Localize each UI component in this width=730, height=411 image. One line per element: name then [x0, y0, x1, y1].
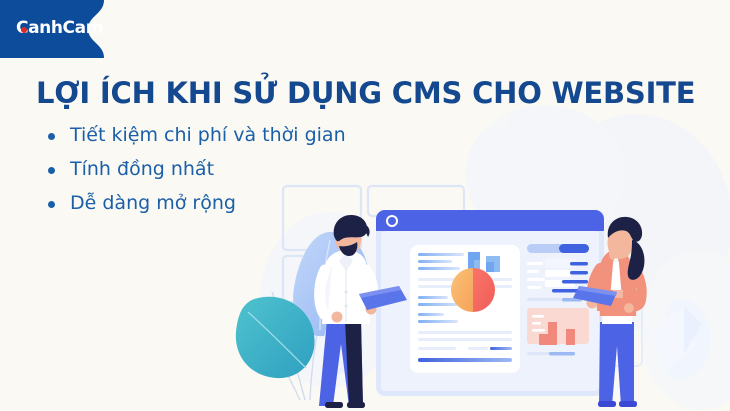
pink-panel	[527, 308, 589, 345]
person-man-with-tablet	[318, 215, 407, 408]
pie-chart	[451, 268, 495, 312]
promo-banner: CanhCam LỢI ÍCH KHI SỬ DỤNG CMS CHO WEBS…	[0, 0, 730, 411]
dashboard-right-panel	[527, 244, 589, 356]
teal-leaf	[236, 297, 315, 378]
page-title: LỢI ÍCH KHI SỬ DỤNG CMS CHO WEBSITE	[36, 78, 676, 108]
person-woman-with-tablet	[573, 217, 644, 407]
ghost-frames-right	[556, 300, 642, 366]
brand-wordmark: CanhCam	[16, 18, 103, 38]
dashboard-card	[410, 245, 520, 373]
foreground-accents	[648, 306, 702, 372]
card-text-lines	[418, 253, 512, 362]
blue-leaf	[293, 232, 368, 336]
list-item: Dễ dàng mở rộng	[36, 192, 676, 216]
benefit-list: Tiết kiệm chi phí và thời gian Tính đồng…	[36, 124, 676, 215]
banner-content: LỢI ÍCH KHI SỬ DỤNG CMS CHO WEBSITE Tiết…	[36, 78, 676, 226]
bar-chart	[468, 252, 500, 272]
pale-leaf-right	[661, 299, 710, 379]
list-item: Tính đồng nhất	[36, 158, 676, 182]
pale-leaf	[322, 300, 366, 374]
foliage-stems	[258, 292, 326, 400]
browser-window	[376, 210, 604, 396]
list-item: Tiết kiệm chi phí và thời gian	[36, 124, 676, 148]
panel-rows	[527, 259, 588, 302]
brand-dot-icon	[21, 27, 27, 33]
